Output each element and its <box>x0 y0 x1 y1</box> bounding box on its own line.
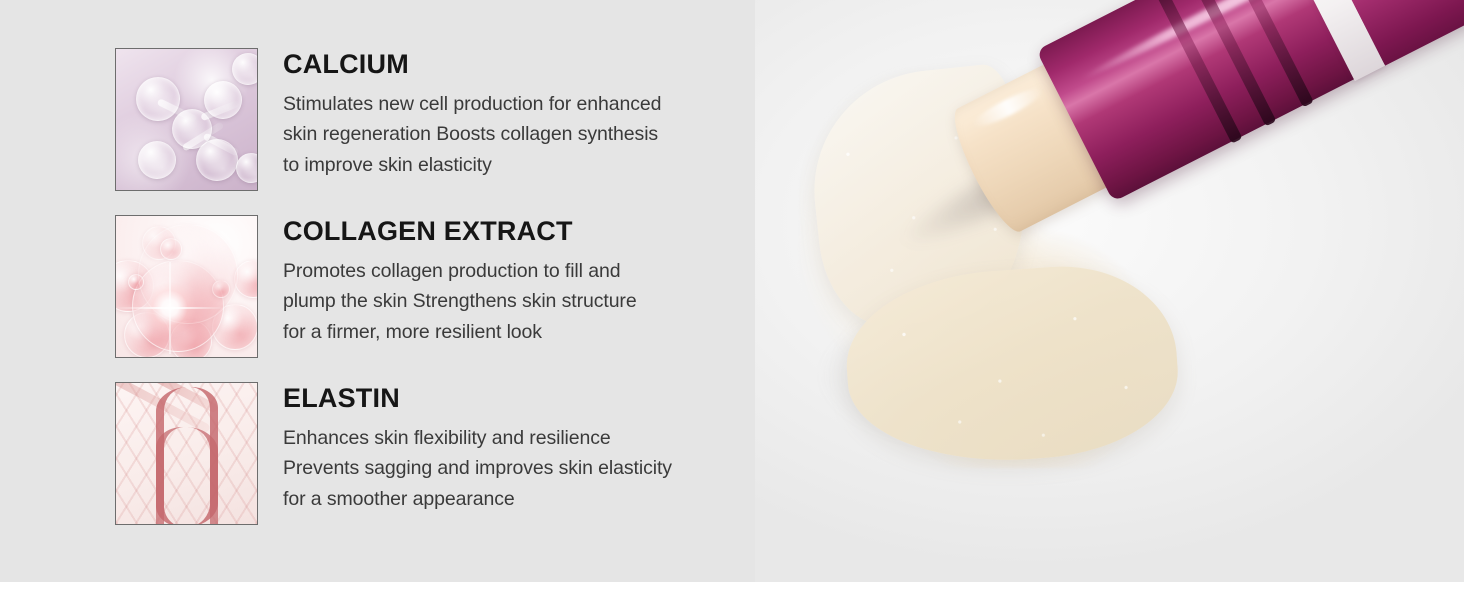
balm-tip-highlight <box>970 83 1047 133</box>
collagen-bubbles-icon <box>116 216 257 357</box>
ingredient-description: Enhances skin flexibility and resilience… <box>283 423 760 515</box>
elastin-thumbnail <box>115 382 258 525</box>
balm-stick: Dr.Melaxin® Cemenrete IC - 3079. 935 e s… <box>936 0 1464 253</box>
calcium-molecule-icon <box>116 49 257 190</box>
ingredient-description: Promotes collagen production to fill and… <box>283 256 760 348</box>
description-line: skin regeneration Boosts collagen synthe… <box>283 119 760 150</box>
ingredient-title: ELASTIN <box>283 384 760 414</box>
elastin-text-block: ELASTIN Enhances skin flexibility and re… <box>283 382 760 515</box>
collagen-thumbnail <box>115 215 258 358</box>
ingredient-item-collagen-extract: COLLAGEN EXTRACT Promotes collagen produ… <box>115 215 760 358</box>
description-line: for a firmer, more resilient look <box>283 317 760 348</box>
description-line: to improve skin elasticity <box>283 150 760 181</box>
calcium-thumbnail <box>115 48 258 191</box>
product-photo: Dr.Melaxin® Cemenrete IC - 3079. 935 e s… <box>755 0 1464 582</box>
ingredient-item-elastin: ELASTIN Enhances skin flexibility and re… <box>115 382 760 525</box>
stick-barrel: Dr.Melaxin® Cemenrete IC - 3079. 935 e s… <box>1036 0 1464 202</box>
ingredient-banner: CALCIUM Stimulates new cell production f… <box>0 0 1464 600</box>
ingredient-item-calcium: CALCIUM Stimulates new cell production f… <box>115 48 760 191</box>
ingredient-title: COLLAGEN EXTRACT <box>283 217 760 247</box>
description-line: for a smoother appearance <box>283 484 760 515</box>
ingredient-title: CALCIUM <box>283 50 760 80</box>
bottom-strip <box>0 582 1464 600</box>
collagen-text-block: COLLAGEN EXTRACT Promotes collagen produ… <box>283 215 760 348</box>
dna-helix-icon <box>116 383 257 524</box>
description-line: Prevents sagging and improves skin elast… <box>283 453 760 484</box>
description-line: plump the skin Strengthens skin structur… <box>283 286 760 317</box>
calcium-text-block: CALCIUM Stimulates new cell production f… <box>283 48 760 181</box>
description-line: Enhances skin flexibility and resilience <box>283 423 760 454</box>
description-line: Stimulates new cell production for enhan… <box>283 89 760 120</box>
light-flare-icon <box>144 282 196 334</box>
ingredient-description: Stimulates new cell production for enhan… <box>283 89 760 181</box>
ingredient-list: CALCIUM Stimulates new cell production f… <box>0 0 760 582</box>
description-line: Promotes collagen production to fill and <box>283 256 760 287</box>
